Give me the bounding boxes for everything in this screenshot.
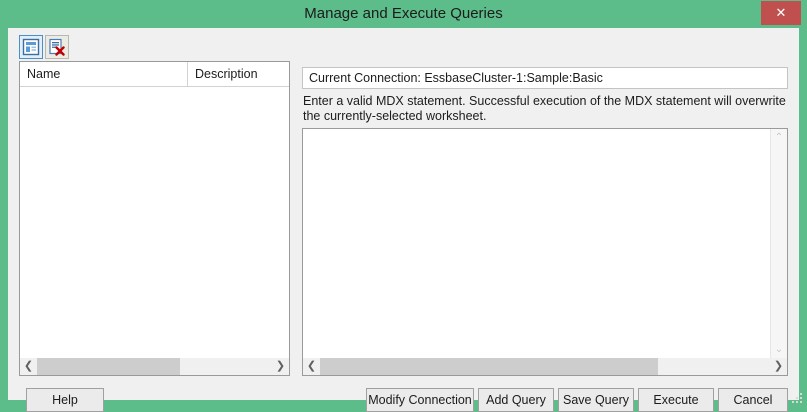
scroll-right-icon[interactable]: ❯ xyxy=(272,358,289,375)
column-header-name[interactable]: Name xyxy=(20,62,188,86)
mdx-hscroll-track[interactable] xyxy=(320,358,770,375)
new-query-glyph xyxy=(22,38,40,56)
new-query-icon[interactable] xyxy=(19,35,43,59)
scroll-down-icon[interactable]: ⌄ xyxy=(771,341,787,358)
page-title: Manage and Execute Queries xyxy=(0,0,807,28)
add-query-button[interactable]: Add Query xyxy=(478,388,554,412)
dialog-client-area: Name Description ❮ ❯ Current Connection:… xyxy=(8,28,799,400)
query-list-header: Name Description xyxy=(20,62,289,87)
instructions-text: Enter a valid MDX statement. Successful … xyxy=(303,94,787,124)
close-icon[interactable]: ✕ xyxy=(761,1,801,25)
scroll-left-icon[interactable]: ❮ xyxy=(20,358,37,375)
current-connection-field: Current Connection: EssbaseCluster-1:Sam… xyxy=(302,67,788,89)
column-header-description[interactable]: Description xyxy=(188,62,288,86)
save-query-button[interactable]: Save Query xyxy=(558,388,634,412)
execute-button[interactable]: Execute xyxy=(638,388,714,412)
help-button[interactable]: Help xyxy=(26,388,104,412)
query-list-hscrollbar[interactable]: ❮ ❯ xyxy=(20,358,289,375)
scroll-right-icon[interactable]: ❯ xyxy=(770,358,787,375)
scroll-up-icon[interactable]: ⌃ xyxy=(771,129,787,146)
query-list-hscroll-track[interactable] xyxy=(37,358,272,375)
title-bar: Manage and Execute Queries ✕ xyxy=(0,0,807,28)
mdx-hscrollbar[interactable]: ❮ ❯ xyxy=(303,358,787,375)
delete-query-glyph xyxy=(48,38,66,56)
delete-query-icon[interactable] xyxy=(45,35,69,59)
scroll-left-icon[interactable]: ❮ xyxy=(303,358,320,375)
query-list-hscroll-thumb[interactable] xyxy=(37,358,180,375)
resize-grip[interactable] xyxy=(792,393,804,405)
query-list-panel: Name Description ❮ ❯ xyxy=(19,61,290,376)
mdx-statement-input[interactable] xyxy=(303,129,770,358)
manage-execute-queries-dialog: Manage and Execute Queries ✕ xyxy=(0,0,807,408)
query-list-body[interactable] xyxy=(20,87,289,358)
query-toolbar xyxy=(19,34,71,60)
mdx-vscrollbar[interactable]: ⌃ ⌄ xyxy=(770,129,787,358)
modify-connection-button[interactable]: Modify Connection xyxy=(366,388,474,412)
mdx-hscroll-thumb[interactable] xyxy=(320,358,658,375)
cancel-button[interactable]: Cancel xyxy=(718,388,788,412)
mdx-statement-panel: ⌃ ⌄ ❮ ❯ xyxy=(302,128,788,376)
